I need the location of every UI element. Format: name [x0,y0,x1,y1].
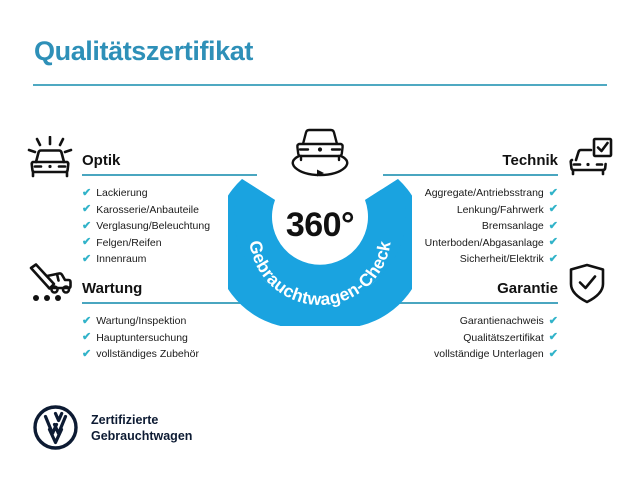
list-item-label: vollständiges Zubehör [96,346,199,363]
footer-text: Zertifizierte Gebrauchtwagen [91,412,192,444]
check-icon: ✔ [549,237,558,248]
check-icon: ✔ [549,188,558,199]
list-item-label: Felgen/Reifen [96,235,161,252]
section-title: Optik [82,152,120,169]
footer-line-2: Gebrauchtwagen [91,428,192,444]
check-icon: ✔ [82,349,91,360]
list-item-label: Hauptuntersuchung [96,330,188,347]
check-icon: ✔ [82,188,91,199]
list-item-label: Lenkung/Fahrwerk [457,202,544,219]
section-title: Wartung [82,280,142,297]
list-item-label: Sicherheit/Elektrik [460,251,544,268]
list-item: Qualitätszertifikat✔ [383,330,558,347]
vw-logo-icon [33,405,78,450]
footer-brand: Zertifizierte Gebrauchtwagen [33,405,192,450]
section-title: Garantie [497,280,558,297]
list-item: ✔Hauptuntersuchung [82,330,257,347]
car-checkbox-icon [567,136,613,180]
shield-check-icon [564,262,610,306]
list-item-label: Lackierung [96,185,147,202]
check-icon: ✔ [82,204,91,215]
wrench-car-icon [27,262,73,306]
title-divider [33,84,607,86]
list-item: vollständige Unterlagen✔ [383,346,558,363]
check-icon: ✔ [82,254,91,265]
check-icon: ✔ [549,221,558,232]
list-item-label: Garantienachweis [460,313,544,330]
check-icon: ✔ [549,349,558,360]
list-item-label: Bremsanlage [482,218,544,235]
certificate-page: Qualitätszertifikat [0,0,640,480]
car-shine-icon [27,136,73,180]
list-item: ✔vollständiges Zubehör [82,346,257,363]
list-item-label: Unterboden/Abgasanlage [425,235,544,252]
list-item-label: Aggregate/Antriebsstrang [425,185,544,202]
list-item-label: Innenraum [96,251,146,268]
list-item-label: Karosserie/Anbauteile [96,202,199,219]
list-item-label: Wartung/Inspektion [96,313,186,330]
list-item-label: Verglasung/Beleuchtung [96,218,210,235]
badge-degrees: 360° [228,206,412,245]
check-icon: ✔ [549,204,558,215]
check-icon: ✔ [82,237,91,248]
check-icon: ✔ [82,221,91,232]
section-title: Technik [502,152,558,169]
footer-line-1: Zertifizierte [91,412,192,428]
check-icon: ✔ [82,316,91,327]
list-item-label: Qualitätszertifikat [463,330,544,347]
check-icon: ✔ [82,332,91,343]
page-title: Qualitätszertifikat [34,36,253,67]
car-rotate-360-icon [281,120,359,180]
check-icon: ✔ [549,254,558,265]
list-item-label: vollständige Unterlagen [434,346,544,363]
check-icon: ✔ [549,316,558,327]
check-icon: ✔ [549,332,558,343]
